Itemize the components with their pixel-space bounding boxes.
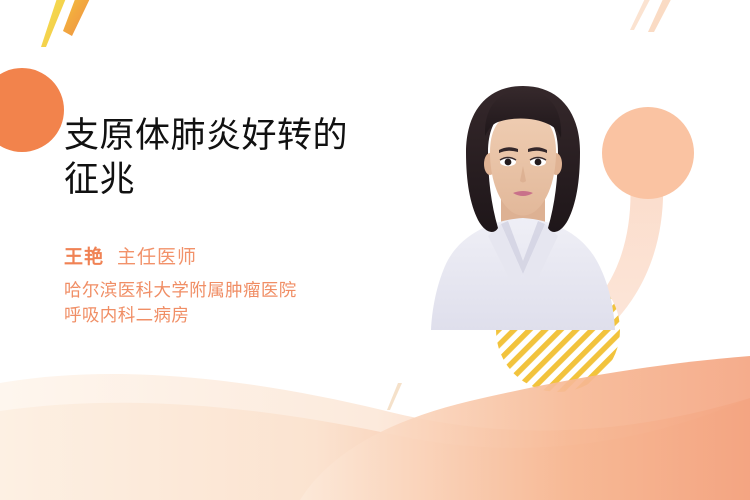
byline: 王艳 主任医师 — [64, 242, 424, 269]
face — [490, 112, 556, 216]
orange-circle-left — [0, 68, 64, 152]
text-content-block: 支原体肺炎好转的 征兆 王艳 主任医师 哈尔滨医科大学附属肿瘤医院 呼吸内科二病… — [64, 114, 424, 329]
page-title: 支原体肺炎好转的 征兆 — [64, 114, 424, 202]
health-video-cover-card: 支原体肺炎好转的 征兆 王艳 主任医师 哈尔滨医科大学附属肿瘤医院 呼吸内科二病… — [0, 0, 750, 500]
diagonal-stripes-top-left — [41, 0, 96, 47]
doctor-portrait — [428, 78, 618, 330]
doctor-title: 主任医师 — [117, 242, 197, 269]
diagonal-stripes-top-right — [630, 0, 677, 32]
pupil-right — [535, 159, 542, 166]
doctor-affiliation: 哈尔滨医科大学附属肿瘤医院 呼吸内科二病房 — [64, 278, 424, 328]
pupil-left — [505, 159, 512, 166]
doctor-name: 王艳 — [64, 242, 104, 269]
